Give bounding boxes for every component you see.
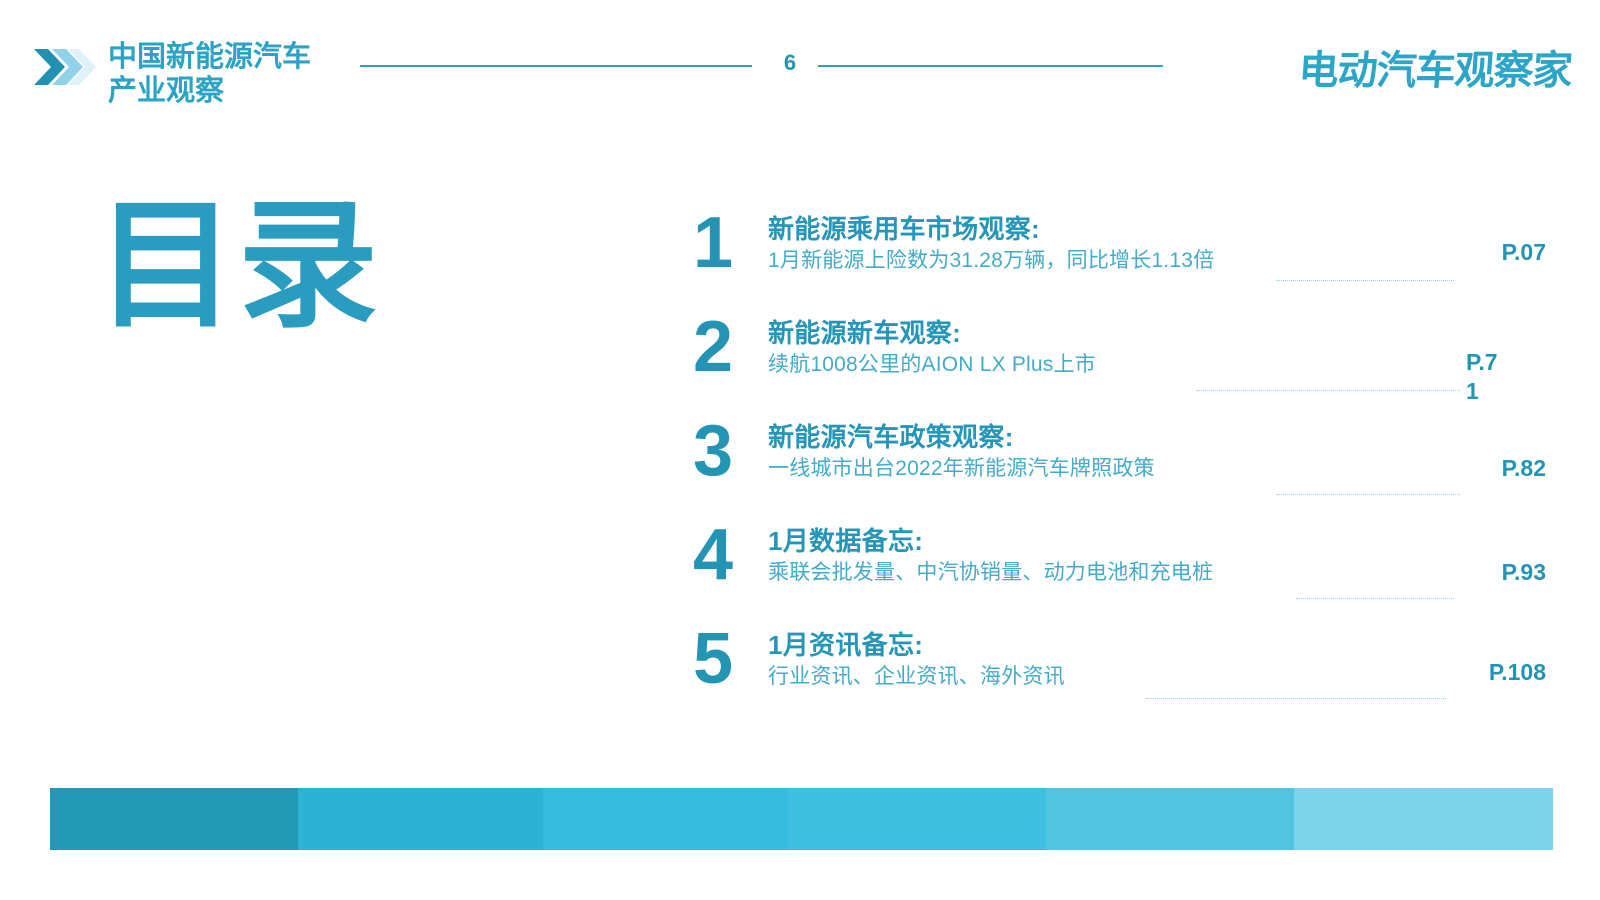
header-rule-left (360, 65, 752, 67)
footer-swatch (1046, 788, 1294, 850)
toc-entry-subtitle: 一线城市出台2022年新能源汽车牌照政策 (768, 455, 1468, 484)
toc-leader-line (1276, 280, 1454, 281)
toc-entry-subtitle: 续航1008公里的AION LX Plus上市 (768, 351, 1468, 380)
toc-leader-line (1146, 698, 1446, 699)
toc-entry-subtitle: 乘联会批发量、中汽协销量、动力电池和充电桩 (768, 559, 1468, 588)
header-rule-right (818, 65, 1163, 67)
footer-swatch (1294, 788, 1553, 850)
toc-entry-index: 5 (676, 624, 750, 695)
toc-entry-page-line: P.7 (1466, 348, 1522, 377)
toc-entry-text: 1月资讯备忘: 行业资讯、企业资讯、海外资讯 (768, 628, 1468, 692)
toc-entry[interactable]: 3 新能源汽车政策观察: 一线城市出台2022年新能源汽车牌照政策 P.82 (676, 414, 1546, 518)
toc-entry-heading: 1月资讯备忘: (768, 628, 1468, 662)
toc-entry-text: 1月数据备忘: 乘联会批发量、中汽协销量、动力电池和充电桩 (768, 524, 1468, 588)
toc-entry-page-line: 1 (1466, 377, 1522, 406)
brand-left: 中国新能源汽车 产业观察 (34, 40, 311, 108)
toc-entry-heading: 新能源汽车政策观察: (768, 420, 1468, 454)
toc-list: 1 新能源乘用车市场观察: 1月新能源上险数为31.28万辆，同比增长1.13倍… (676, 206, 1546, 726)
toc-entry-subtitle: 行业资讯、企业资讯、海外资讯 (768, 663, 1468, 692)
toc-entry-index: 2 (676, 312, 750, 383)
brand-right: 电动汽车观察家 (1297, 38, 1574, 96)
toc-entry-page[interactable]: P.108 (1450, 658, 1546, 687)
toc-entry-heading: 新能源新车观察: (768, 316, 1468, 350)
toc-entry[interactable]: 1 新能源乘用车市场观察: 1月新能源上险数为31.28万辆，同比增长1.13倍… (676, 206, 1546, 310)
toc-entry[interactable]: 4 1月数据备忘: 乘联会批发量、中汽协销量、动力电池和充电桩 P.93 (676, 518, 1546, 622)
toc-entry-index: 4 (676, 520, 750, 591)
footer-swatch (50, 788, 298, 850)
brand-left-title: 中国新能源汽车 产业观察 (108, 40, 311, 108)
toc-entry[interactable]: 2 新能源新车观察: 续航1008公里的AION LX Plus上市 P.71 (676, 310, 1546, 414)
toc-entry-page[interactable]: P.82 (1460, 454, 1546, 483)
toc-entry-heading: 新能源乘用车市场观察: (768, 212, 1468, 246)
triple-chevron-icon (34, 46, 96, 88)
footer-swatch (298, 788, 543, 850)
toc-entry-page[interactable]: P.07 (1460, 238, 1546, 267)
toc-leader-line (1196, 390, 1460, 391)
toc-entry-text: 新能源汽车政策观察: 一线城市出台2022年新能源汽车牌照政策 (768, 420, 1468, 484)
toc-entry-page[interactable]: P.93 (1460, 558, 1546, 587)
page-number: 6 (760, 50, 820, 76)
toc-entry-subtitle: 1月新能源上险数为31.28万辆，同比增长1.13倍 (768, 247, 1468, 276)
toc-entry-text: 新能源乘用车市场观察: 1月新能源上险数为31.28万辆，同比增长1.13倍 (768, 212, 1468, 276)
page-title: 目录 (96, 196, 380, 336)
toc-entry-index: 3 (676, 416, 750, 487)
slide-header: 中国新能源汽车 产业观察 6 电动汽车观察家 (0, 0, 1600, 140)
toc-entry-index: 1 (676, 208, 750, 279)
footer-color-bar (50, 788, 1553, 850)
toc-entry[interactable]: 5 1月资讯备忘: 行业资讯、企业资讯、海外资讯 P.108 (676, 622, 1546, 726)
toc-leader-line (1296, 598, 1454, 599)
toc-leader-line (1276, 494, 1460, 495)
footer-swatch (543, 788, 788, 850)
toc-entry-page[interactable]: P.71 (1466, 348, 1522, 406)
toc-entry-text: 新能源新车观察: 续航1008公里的AION LX Plus上市 (768, 316, 1468, 380)
toc-entry-heading: 1月数据备忘: (768, 524, 1468, 558)
footer-swatch (788, 788, 1046, 850)
